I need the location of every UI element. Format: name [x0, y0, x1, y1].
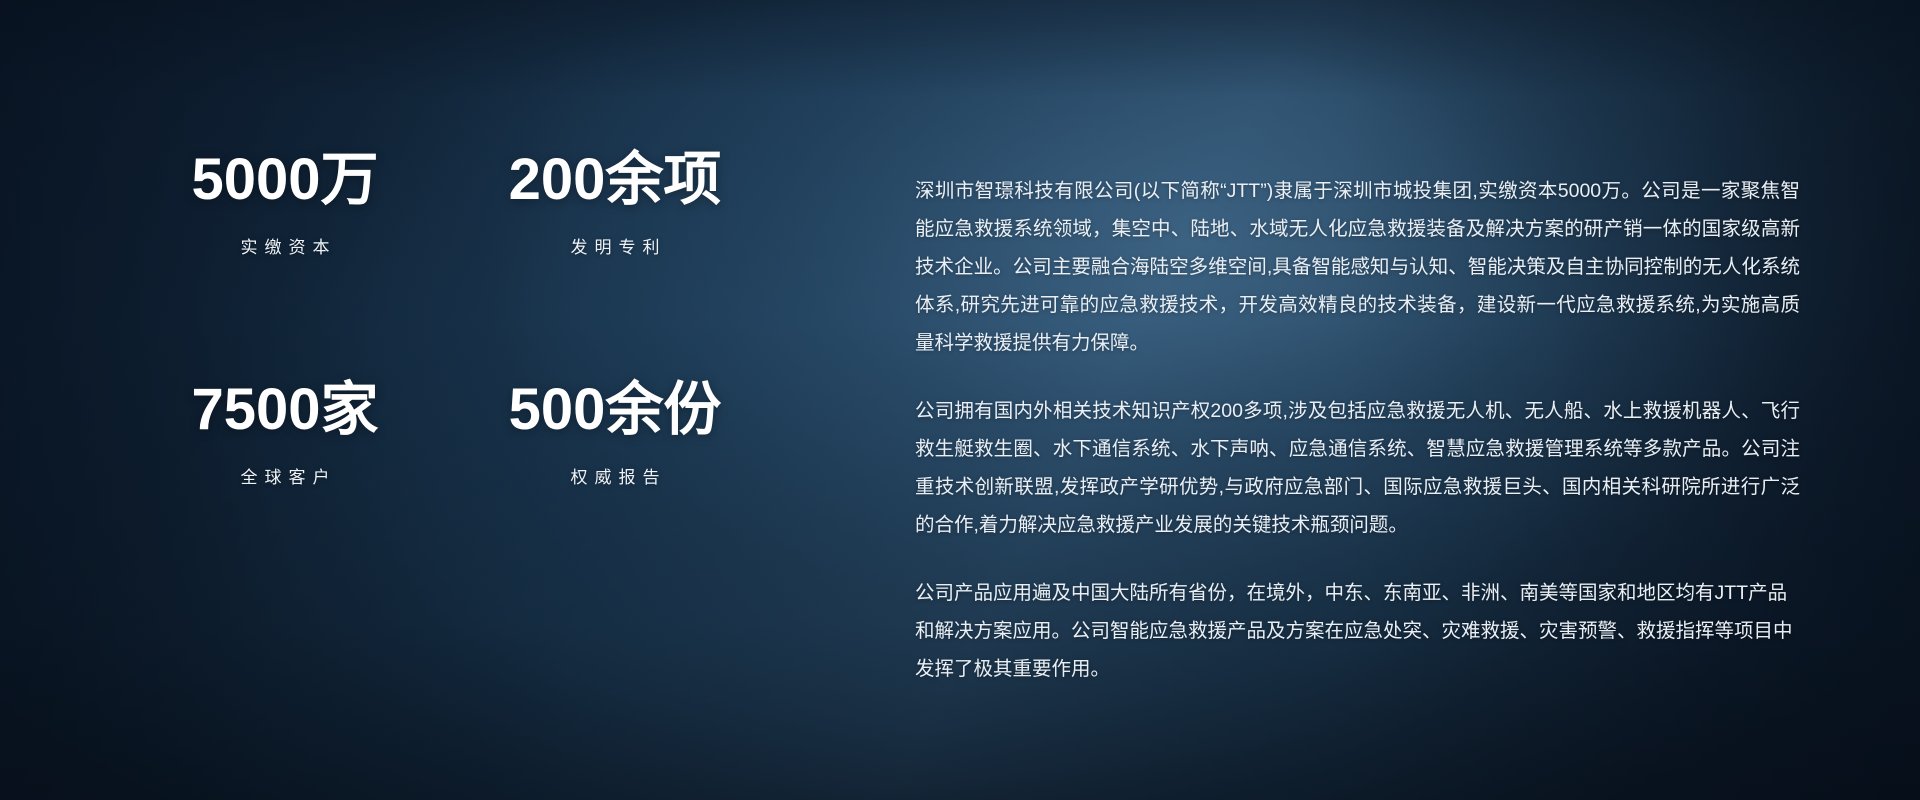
stat-label: 全球客户: [120, 463, 450, 488]
intro-paragraph-3: 公司产品应用遍及中国大陆所有省份，在境外，中东、东南亚、非洲、南美等国家和地区均…: [915, 574, 1800, 688]
stat-label: 权威报告: [450, 463, 780, 488]
company-introduction-text: 深圳市智璟科技有限公司(以下简称“JTT”)隶属于深圳市城投集团,实缴资本500…: [915, 172, 1800, 688]
stat-card-authoritative-reports: 500余份 权威报告: [450, 380, 780, 590]
stat-card-invention-patents: 200余项 发明专利: [450, 150, 780, 380]
statistics-grid: 5000万 实缴资本 200余项 发明专利 7500家 全球客户 500余份 权…: [120, 150, 780, 590]
company-profile-section: 5000万 实缴资本 200余项 发明专利 7500家 全球客户 500余份 权…: [0, 0, 1920, 800]
stat-value: 200余项: [450, 150, 780, 211]
stat-value: 5000万: [120, 150, 450, 211]
stat-card-global-customers: 7500家 全球客户: [120, 380, 450, 590]
stat-value: 7500家: [120, 380, 450, 441]
intro-paragraph-1: 深圳市智璟科技有限公司(以下简称“JTT”)隶属于深圳市城投集团,实缴资本500…: [915, 172, 1800, 362]
stat-card-paid-in-capital: 5000万 实缴资本: [120, 150, 450, 380]
intro-paragraph-2: 公司拥有国内外相关技术知识产权200多项,涉及包括应急救援无人机、无人船、水上救…: [915, 392, 1800, 544]
stat-label: 实缴资本: [120, 233, 450, 258]
stat-value: 500余份: [450, 380, 780, 441]
stat-label: 发明专利: [450, 233, 780, 258]
